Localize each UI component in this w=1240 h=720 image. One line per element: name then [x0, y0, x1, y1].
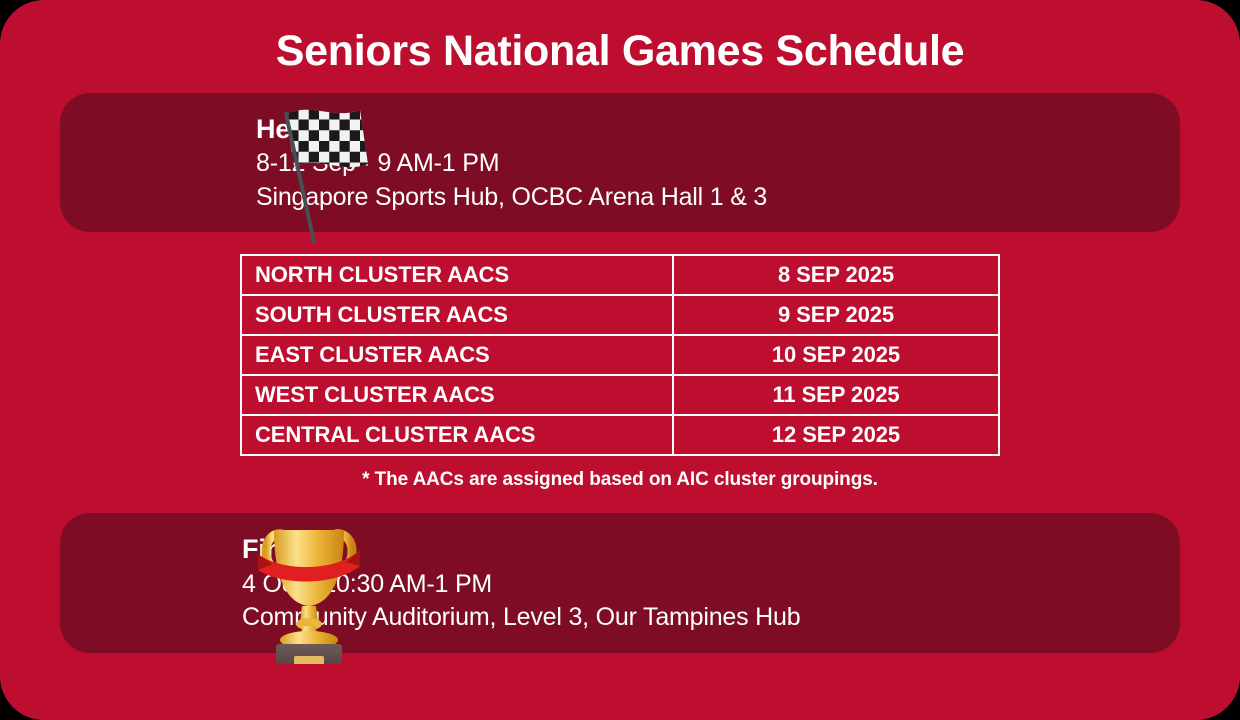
finals-card: Finals: 4 Oct · 10:30 AM-1 PM Community … — [60, 513, 1180, 653]
table-row: NORTH CLUSTER AACS 8 SEP 2025 — [241, 255, 999, 295]
table-row: SOUTH CLUSTER AACS 9 SEP 2025 — [241, 295, 999, 335]
cluster-date-cell: 8 SEP 2025 — [673, 255, 999, 295]
cluster-schedule-table: NORTH CLUSTER AACS 8 SEP 2025 SOUTH CLUS… — [240, 254, 1000, 456]
table-footnote: * The AACs are assigned based on AIC clu… — [362, 469, 878, 491]
checkered-flag-icon — [268, 104, 376, 244]
cluster-name-cell: NORTH CLUSTER AACS — [241, 255, 673, 295]
table-row: WEST CLUSTER AACS 11 SEP 2025 — [241, 375, 999, 415]
cluster-name-cell: SOUTH CLUSTER AACS — [241, 295, 673, 335]
schedule-table-body: NORTH CLUSTER AACS 8 SEP 2025 SOUTH CLUS… — [241, 255, 999, 455]
table-row: EAST CLUSTER AACS 10 SEP 2025 — [241, 335, 999, 375]
cluster-name-cell: CENTRAL CLUSTER AACS — [241, 415, 673, 455]
schedule-poster: Seniors National Games Schedule Heats: 8… — [0, 0, 1240, 720]
cluster-name-cell: WEST CLUSTER AACS — [241, 375, 673, 415]
cluster-date-cell: 12 SEP 2025 — [673, 415, 999, 455]
cluster-date-cell: 11 SEP 2025 — [673, 375, 999, 415]
heats-card: Heats: 8-12 Sep · 9 AM-1 PM Singapore Sp… — [60, 93, 1180, 232]
table-row: CENTRAL CLUSTER AACS 12 SEP 2025 — [241, 415, 999, 455]
cluster-name-cell: EAST CLUSTER AACS — [241, 335, 673, 375]
page-title: Seniors National Games Schedule — [276, 0, 965, 76]
trophy-icon — [256, 518, 362, 664]
cluster-date-cell: 10 SEP 2025 — [673, 335, 999, 375]
cluster-date-cell: 9 SEP 2025 — [673, 295, 999, 335]
